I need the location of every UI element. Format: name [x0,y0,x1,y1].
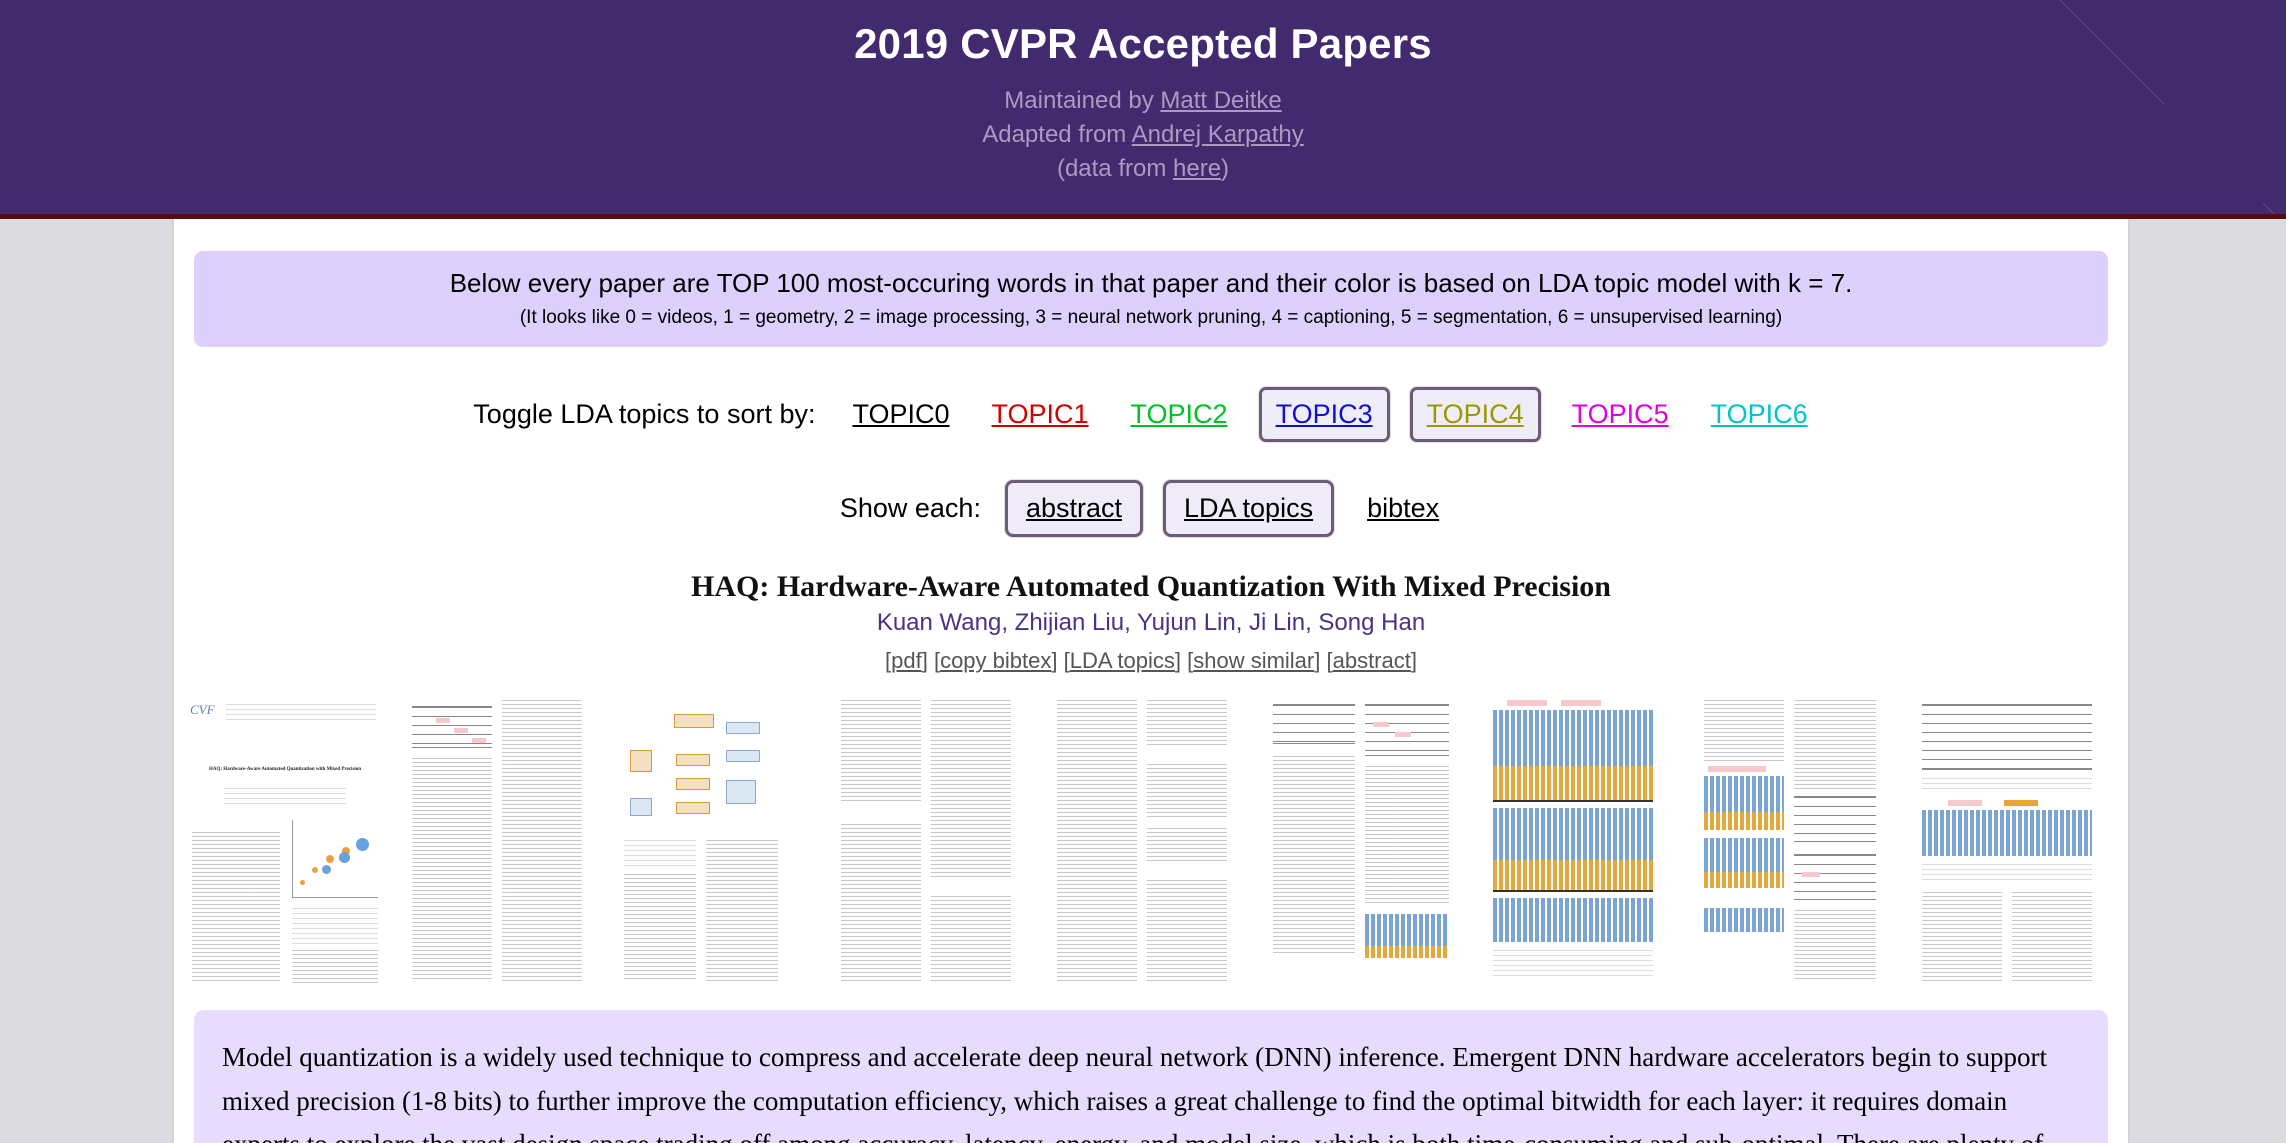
paper-page-thumbnail[interactable] [1477,692,1689,990]
lda-topics-link[interactable]: LDA topics [1070,648,1175,673]
page-title: 2019 CVPR Accepted Papers [0,20,2286,68]
topic-toggle-2[interactable]: TOPIC2 [1124,393,1235,436]
paper-page-thumbnail[interactable] [1045,692,1257,990]
maintainer-link[interactable]: Matt Deitke [1160,87,1281,114]
info-banner: Below every paper are TOP 100 most-occur… [194,251,2108,347]
adapted-from-prefix: Adapted from [982,121,1131,148]
pdf-link[interactable]: pdf [891,648,922,673]
paper-page-thumbnail[interactable] [1908,692,2120,990]
adapted-from-line: Adapted from Andrej Karpathy [0,118,2286,152]
data-source-link[interactable]: here [1173,155,1221,182]
abstract-box: Model quantization is a widely used tech… [194,1010,2108,1143]
topic-toggle-0[interactable]: TOPIC0 [845,393,956,436]
bracket-close: ] [ [1051,648,1069,673]
bracket-close: ] [1411,648,1417,673]
info-banner-sub-text: (It looks like 0 = videos, 1 = geometry,… [218,307,2084,329]
header-inner: 2019 CVPR Accepted Papers Maintained by … [0,0,2286,186]
show-abstract-toggle[interactable]: abstract [1005,480,1143,537]
main-content: Below every paper are TOP 100 most-occur… [172,219,2130,1143]
show-lda-topics-toggle[interactable]: LDA topics [1163,480,1334,537]
topic-toggle-4[interactable]: TOPIC4 [1410,387,1541,442]
show-similar-link[interactable]: show similar [1193,648,1314,673]
topic-toggle-3[interactable]: TOPIC3 [1259,387,1390,442]
paper-page-thumbnails: CVF HAQ: Hardware-Aware Automated Quanti… [174,692,2128,990]
abstract-text: Model quantization is a widely used tech… [222,1036,2080,1143]
site-header: 2019 CVPR Accepted Papers Maintained by … [0,0,2286,219]
show-each-row: Show each:abstractLDA topicsbibtex [174,480,2128,537]
show-each-label: Show each: [840,493,981,523]
copy-bibtex-link[interactable]: copy bibtex [940,648,1051,673]
maintained-by-line: Maintained by Matt Deitke [0,84,2286,118]
paper-title: HAQ: Hardware-Aware Automated Quantizati… [174,569,2128,604]
bracket-close: ] [ [922,648,940,673]
show-bibtex-toggle[interactable]: bibtex [1358,487,1448,530]
paper-authors: Kuan Wang, Zhijian Liu, Yujun Lin, Ji Li… [174,609,2128,637]
topic-toggle-1[interactable]: TOPIC1 [985,393,1096,436]
bracket-close: ] [ [1175,648,1193,673]
paper-page-thumbnail[interactable] [1692,692,1904,990]
adapted-from-link[interactable]: Andrej Karpathy [1132,121,1304,148]
data-source-line: (data from here) [0,152,2286,186]
bracket-close: ] [ [1314,648,1332,673]
paper-action-links: [pdf] [copy bibtex] [LDA topics] [show s… [174,648,2128,674]
github-corner-link[interactable] [2060,0,2286,219]
github-octocat-icon [2060,0,2286,219]
abstract-link[interactable]: abstract [1333,648,1411,673]
data-source-suffix: ) [1221,155,1229,182]
topic-toggle-5[interactable]: TOPIC5 [1565,393,1676,436]
paper-page-thumbnail[interactable] [398,692,610,990]
paper-entry: HAQ: Hardware-Aware Automated Quantizati… [174,569,2128,674]
paper-page-thumbnail[interactable] [614,692,826,990]
maintained-by-prefix: Maintained by [1004,87,1160,114]
lda-topic-toggle-label: Toggle LDA topics to sort by: [473,399,815,429]
topic-toggle-6[interactable]: TOPIC6 [1704,393,1815,436]
data-source-prefix: (data from [1057,155,1173,182]
info-banner-main-text: Below every paper are TOP 100 most-occur… [218,267,2084,300]
paper-page-thumbnail[interactable] [1261,692,1473,990]
paper-page-thumbnail[interactable] [829,692,1041,990]
lda-topic-toggle-row: Toggle LDA topics to sort by:TOPIC0TOPIC… [174,387,2128,442]
paper-page-thumbnail[interactable]: CVF HAQ: Hardware-Aware Automated Quanti… [182,692,394,990]
